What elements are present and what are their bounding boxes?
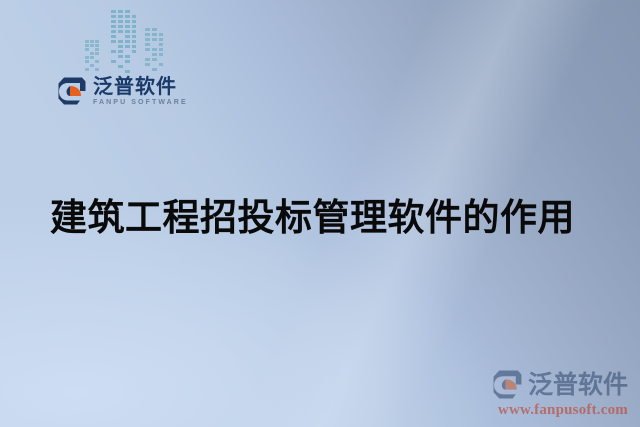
fanpu-hexagon-swirl-logo-icon [57,76,87,106]
page-title: 建筑工程招投标管理软件的作用 [50,196,595,240]
brand-name-cn: 泛普软件 [93,76,188,96]
brand-name-en: FANPU SOFTWARE [93,99,188,106]
watermark: 泛普软件 www.fanpusoft.com [463,369,628,419]
brand-logo-lockup: 泛普软件 FANPU SOFTWARE [57,76,188,106]
slide-canvas: 泛普软件 FANPU SOFTWARE 建筑工程招投标管理软件的作用 泛普软件 … [0,0,640,427]
fanpu-hexagon-swirl-logo-icon [492,369,523,400]
brand-header: 泛普软件 FANPU SOFTWARE [55,4,215,114]
watermark-name-cn: 泛普软件 [528,372,628,397]
brand-wordmark: 泛普软件 FANPU SOFTWARE [93,76,188,106]
watermark-url: www.fanpusoft.com [463,402,628,419]
watermark-logo-lockup: 泛普软件 [463,369,628,400]
pixel-skyline-icon [85,6,180,76]
